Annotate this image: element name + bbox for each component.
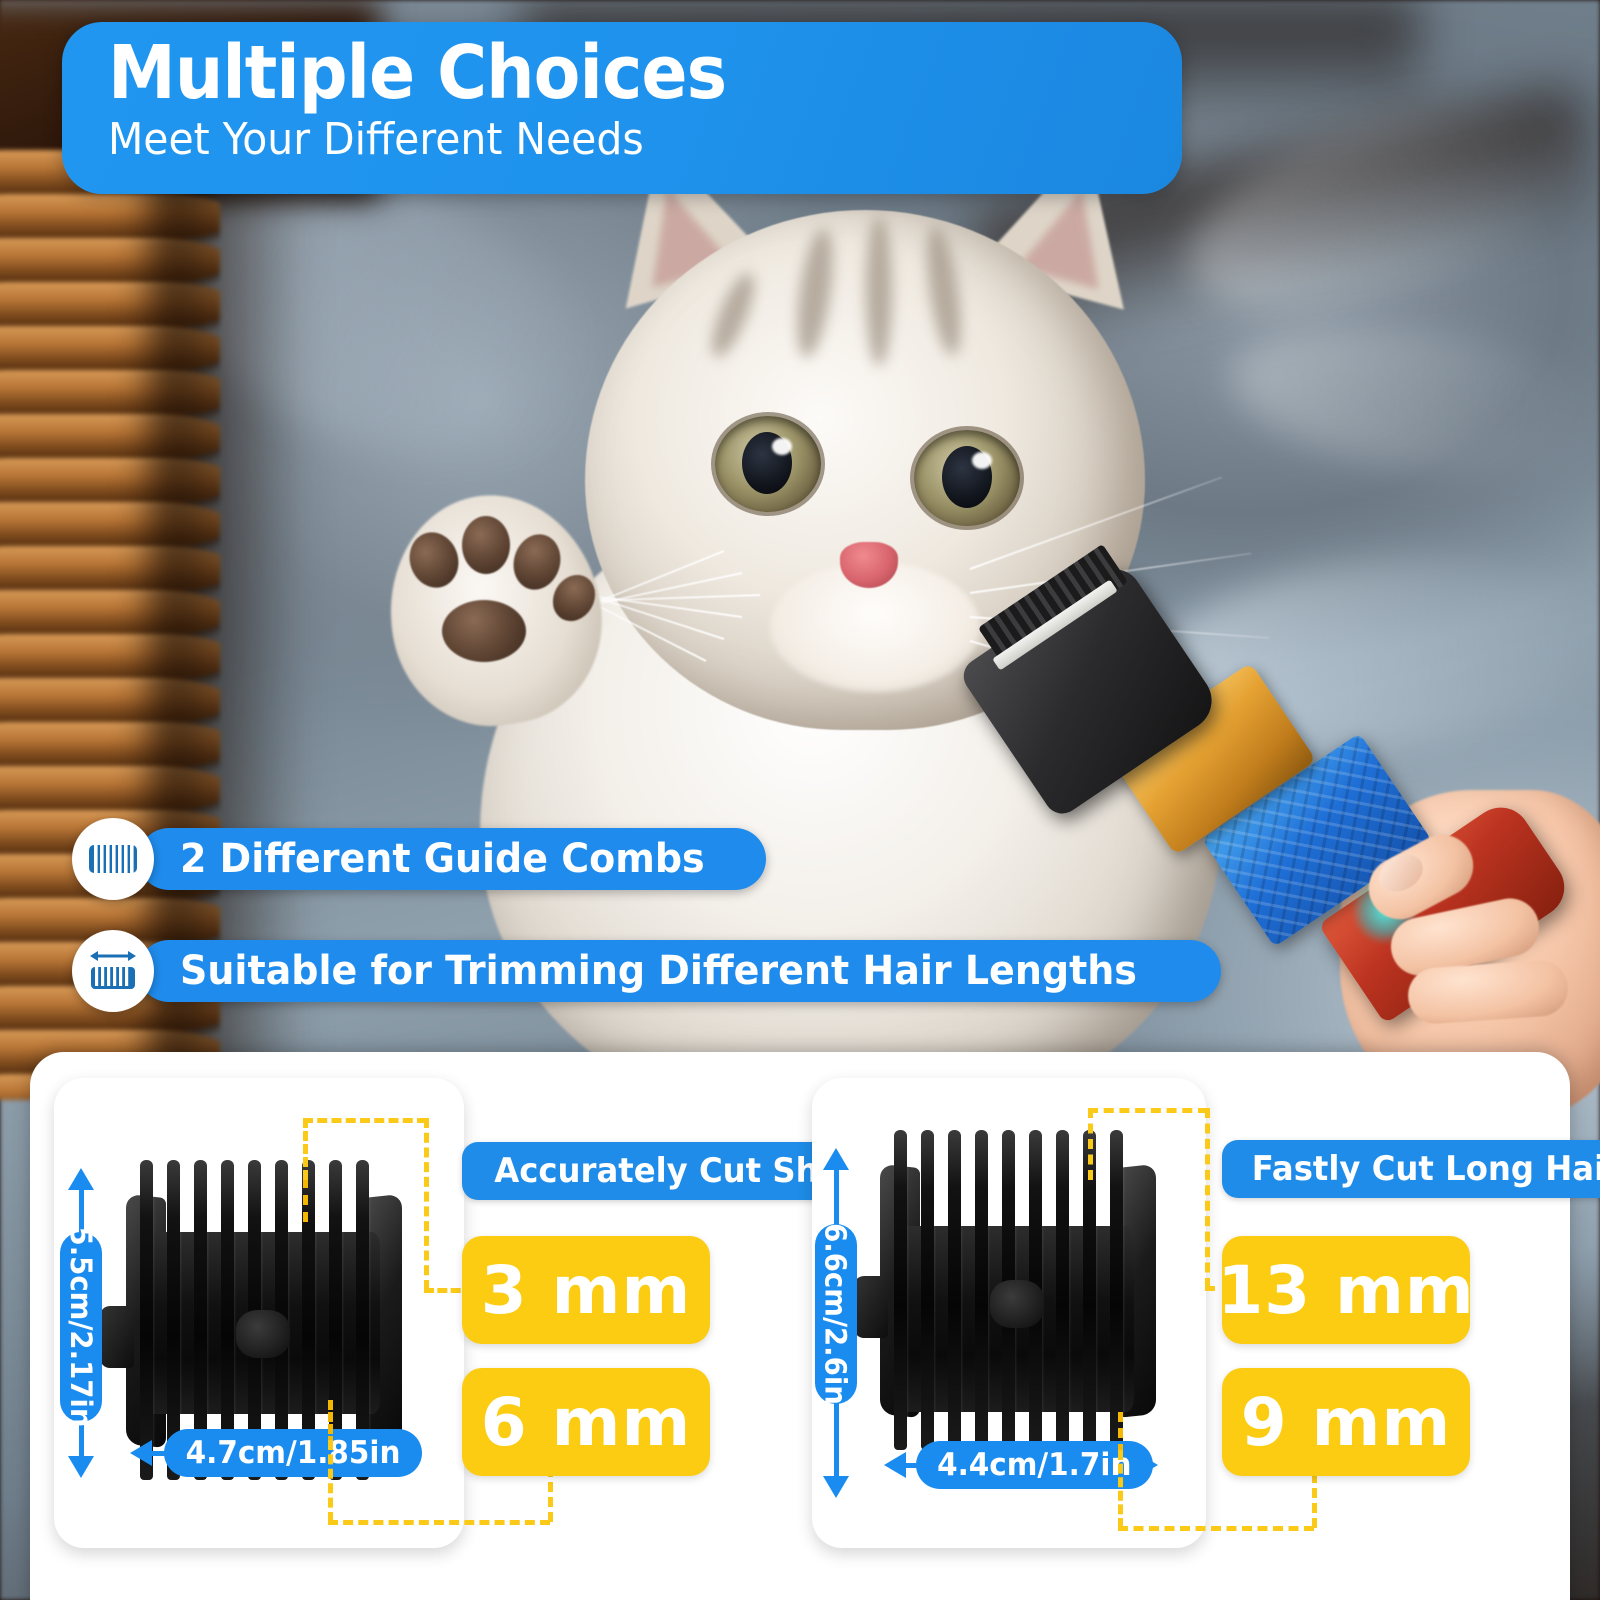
comb-tooth [1056, 1130, 1069, 1450]
callout-dash-left-across [303, 1118, 427, 1123]
width-dimension-text: 4.7cm/1.85in [186, 1435, 401, 1471]
callout-tick-right-bottom [1118, 1412, 1123, 1454]
arrow-head-left [130, 1440, 152, 1466]
arrow-head-down [823, 1476, 849, 1498]
arrow-head-down [68, 1456, 94, 1478]
kitten-eye-glint [972, 452, 992, 469]
callout-dash-left-bottom-down [328, 1440, 333, 1522]
feature-badge-guide-combs: 2 Different Guide Combs [72, 818, 766, 900]
height-dimension-label-left: 5.5cm/2.17in [60, 1232, 102, 1422]
size-badge-13mm: 13 mm [1222, 1236, 1470, 1344]
comb-tooth [948, 1130, 961, 1450]
feature-pill: 2 Different Guide Combs [138, 828, 766, 890]
size-badge-9mm: 9 mm [1222, 1368, 1470, 1476]
comb-tab [854, 1276, 888, 1338]
arrow-head-left [884, 1452, 906, 1478]
feature-badge-hair-lengths: Suitable for Trimming Different Hair Len… [72, 930, 1221, 1012]
comb-tab [100, 1306, 134, 1368]
callout-dash-left-up [303, 1118, 308, 1180]
size-badge-text: 3 mm [481, 1252, 691, 1329]
page-subtitle: Meet Your Different Needs [108, 114, 1107, 165]
size-badge-text: 9 mm [1241, 1384, 1451, 1461]
callout-dash-left-down [424, 1118, 429, 1290]
callout-dash-right-bottom-down [1118, 1450, 1123, 1528]
arrow-head-up [68, 1168, 94, 1190]
callout-dash-right-across [1088, 1108, 1208, 1113]
comb-tooth [140, 1160, 153, 1480]
feature-label: Suitable for Trimming Different Hair Len… [180, 948, 1137, 994]
comb-tooth [921, 1130, 934, 1450]
paw-toe-pad [462, 516, 510, 574]
finger [1406, 958, 1570, 1025]
size-badge-3mm: 3 mm [462, 1236, 710, 1344]
width-dimension-text: 4.4cm/1.7in [937, 1447, 1131, 1483]
size-badge-text: 13 mm [1217, 1252, 1474, 1329]
size-badge-6mm: 6 mm [462, 1368, 710, 1476]
arrow-head-up [823, 1148, 849, 1170]
cut-label-long-hair: Fastly Cut Long Hair [1222, 1140, 1600, 1198]
callout-tick-left-top [303, 1178, 308, 1222]
feature-label: 2 Different Guide Combs [180, 836, 705, 882]
height-dimension-text: 6.6cm/2.6in [819, 1223, 853, 1405]
comb-knob [990, 1280, 1044, 1328]
kitten-eye-glint [772, 438, 792, 455]
callout-dash-left-bottom-across [328, 1520, 550, 1525]
cut-label-text: Fastly Cut Long Hair [1252, 1149, 1600, 1189]
comb-tooth [894, 1130, 907, 1450]
comb-icon [72, 818, 154, 900]
kitten-stripe [866, 216, 892, 366]
page-title: Multiple Choices [108, 28, 1096, 118]
header-banner: Multiple Choices Meet Your Different Nee… [62, 22, 1182, 194]
paw-pad [442, 600, 526, 662]
comb-tooth [975, 1130, 988, 1450]
callout-dash-right-down [1205, 1108, 1210, 1288]
comb-tooth [1110, 1130, 1123, 1450]
product-infographic: Multiple Choices Meet Your Different Nee… [0, 0, 1600, 1600]
width-dimension-label-left: 4.7cm/1.85in [164, 1429, 422, 1477]
callout-dash-right-up [1088, 1108, 1093, 1180]
size-badge-text: 6 mm [481, 1384, 691, 1461]
feature-pill: Suitable for Trimming Different Hair Len… [138, 940, 1221, 1002]
height-dimension-label-right: 6.6cm/2.6in [815, 1224, 857, 1404]
comb-measure-icon [72, 930, 154, 1012]
height-dimension-text: 5.5cm/2.17in [64, 1227, 98, 1428]
callout-dash-right-bottom-across [1118, 1526, 1314, 1531]
comb-knob [236, 1310, 290, 1358]
